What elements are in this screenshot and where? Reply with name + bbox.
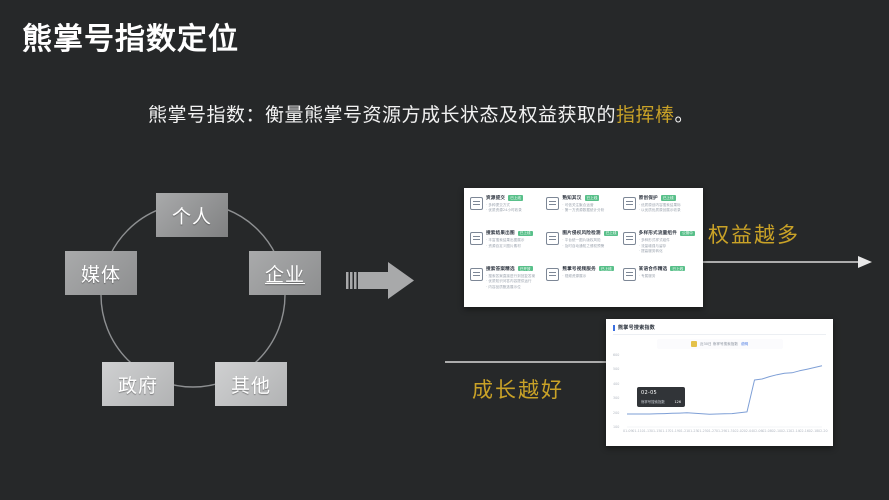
cycle-node-enterprise-label: 企业 [265,260,305,287]
feature-item-head: 某语合作精选 已上线 [639,266,697,272]
status-badge: 公测中 [680,231,695,236]
block-arrow-right-icon [346,256,416,304]
video-icon [546,268,559,281]
chart-y-tick: 200 [613,411,619,415]
chart-x-tick: 01-09 [623,429,633,433]
chart-x-tick: 01-13 [642,429,652,433]
chart-x-tick: 02-12 [781,429,791,433]
feature-item-title: 图片侵权风险检测 [562,230,600,236]
feature-item-body: 某语合作精选 已上线 · 专属服务 [639,266,697,300]
feature-item[interactable]: 图片侵权风险检测 已上线 · 平台统一图片版权风险 · 及时自动通知之侵权预警 [546,230,620,264]
chart-x-tick: 02-14 [790,429,800,433]
feature-item-head: 图片侵权风险检测 已上线 [562,230,620,236]
cycle-diagram: 个人 企业 其他 政府 媒体 [70,185,330,420]
feature-item-head: 多样形式流量组件 公测中 [639,230,697,236]
chart-x-tick: 01-29 [716,429,726,433]
cycle-node-government[interactable]: 政府 [102,362,174,406]
chart-x-tick: 01-11 [632,429,642,433]
chart-tooltip-label: 熊掌号搜索指数 [641,399,665,404]
chart-notice-text: 近30日 熊掌号搜索指数 [700,342,738,347]
chart-x-tick: 02-10 [772,429,782,433]
subtitle-text-before: 熊掌号指数：衡量熊掌号资源方成长状态及权益获取的 [148,104,616,126]
feature-item[interactable]: 熊掌号视频服务 已上线 · 视频资源展示 [546,266,620,300]
feature-item[interactable]: 搜索结果出图 已上线 · 丰富搜索结果出图展示 · 资源自定义图片素材 [470,230,544,264]
search-index-chart-card[interactable]: 熊掌号搜索指数 近30日 熊掌号搜索指数 说明 6005004003002001… [606,319,833,446]
feature-item[interactable]: 多样形式流量组件 公测中 · 多种形式样式组件 · 流量增强与留存 · 提高服务… [623,230,697,264]
cycle-node-other[interactable]: 其他 [215,362,287,406]
shield-document-icon [623,197,636,210]
status-badge: 已上线 [670,266,685,271]
feature-item-body: 搜索结果出图 已上线 · 丰富搜索结果出图展示 · 资源自定义图片素材 [486,230,544,264]
status-badge: 已上线 [599,266,614,271]
chart-y-tick: 400 [613,382,619,386]
chart-x-tick: 02-04 [744,429,754,433]
feature-grid-card[interactable]: 资源提交 已上线 · 多种提交方式 · 优质资源24小时收录 熟知其汉 已上线 … [464,188,703,307]
question-icon [470,268,483,281]
chart-y-tick: 600 [613,353,619,357]
chart-x-tick: 01-25 [697,429,707,433]
chart-x-tick: 01-15 [651,429,661,433]
feature-item-line: · 视频资源展示 [562,274,620,279]
annotation-growth-label: 成长越好 [472,374,564,404]
feature-item-line: · 资源自定义图片素材 [486,244,544,249]
status-badge: 已上线 [508,195,523,200]
accent-bar-icon [613,325,615,331]
chart-plot-area[interactable]: 600500400300200100 01-0901-1101-1301-150… [613,351,826,437]
feature-item-line: · 优质资源24小时收录 [486,208,544,213]
feature-item-body: 资源提交 已上线 · 多种提交方式 · 优质资源24小时收录 [486,195,544,229]
chart-x-tick: 01-21 [679,429,689,433]
chart-x-tick: 02-02 [734,429,744,433]
page-title: 熊掌号指数定位 [22,22,239,58]
feature-item-body: 原创保护 已上线 · 优质原创内容搜索结果标 · 以优质优质原创展示收录 [639,195,697,229]
list-icon [623,232,636,245]
subtitle-text-after: 。 [675,104,695,126]
feature-item-head: 原创保护 已上线 [639,195,697,201]
cycle-node-other-label: 其他 [231,371,271,398]
feature-item-head: 搜索答案精选 已开放 [486,266,544,272]
feature-item-line: · 及时自动通知之侵权预警 [562,244,620,249]
status-badge: 已开放 [518,266,533,271]
image-shield-icon [546,232,559,245]
feature-item-title: 资源提交 [486,195,505,201]
subtitle: 熊掌号指数：衡量熊掌号资源方成长状态及权益获取的指挥棒。 [148,100,694,127]
chart-tooltip-row: 熊掌号搜索指数 126 [641,399,681,404]
chart-x-tick: 02-08 [762,429,772,433]
status-badge: 已上线 [661,195,676,200]
cycle-node-person-label: 个人 [172,202,212,229]
chart-x-tick: 01-19 [669,429,679,433]
chart-tooltip: 02-05 熊掌号搜索指数 126 [637,387,685,407]
feature-item-title: 熟知其汉 [562,195,581,201]
chart-x-tick: 02-16 [799,429,809,433]
slide-root: 熊掌号指数定位 熊掌号指数：衡量熊掌号资源方成长状态及权益获取的指挥棒。 个人 … [0,0,889,500]
feature-item-body: 图片侵权风险检测 已上线 · 平台统一图片版权风险 · 及时自动通知之侵权预警 [562,230,620,264]
chart-tooltip-date: 02-05 [641,390,681,396]
status-badge: 已上线 [518,231,533,236]
chart-x-tick: 01-17 [660,429,670,433]
warning-icon [691,341,697,347]
chart-notice-banner: 近30日 熊掌号搜索指数 说明 [657,339,783,349]
feature-item-line: · 提高服务转化 [639,249,697,254]
chart-tooltip-value: 126 [675,400,681,404]
feature-item[interactable]: 原创保护 已上线 · 优质原创内容搜索结果标 · 以优质优质原创展示收录 [623,195,697,229]
feature-item-line: · 内容品质甄选展示位 [486,285,544,290]
feature-item-line: · 第一方资源数据统计分析 [562,208,620,213]
feature-item-title: 多样形式流量组件 [639,230,677,236]
chart-y-tick: 300 [613,396,619,400]
feature-item-body: 熊掌号视频服务 已上线 · 视频资源展示 [562,266,620,300]
feature-item-head: 资源提交 已上线 [486,195,544,201]
cycle-node-enterprise[interactable]: 企业 [249,251,321,295]
cycle-node-person[interactable]: 个人 [156,193,228,237]
status-badge: 已上线 [604,231,619,236]
feature-item-title: 搜索答案精选 [486,266,515,272]
feature-item-line: · 专属服务 [639,274,697,279]
chart-y-tick: 500 [613,367,619,371]
chart-x-tick: 02-20 [818,429,828,433]
document-icon [470,197,483,210]
feature-item-body: 熟知其汉 已上线 · 可信关注聚合运营 · 第一方资源数据统计分析 [562,195,620,229]
image-icon [470,232,483,245]
chart-title: 熊掌号搜索指数 [618,324,655,331]
cycle-node-media-label: 媒体 [81,260,121,287]
chart-x-tick: 02-18 [809,429,819,433]
feature-item-body: 多样形式流量组件 公测中 · 多种形式样式组件 · 流量增强与留存 · 提高服务… [639,230,697,264]
feature-item-body: 搜索答案精选 已开放 · 搜索答案直接进行到回复答案 · 优质知识问答内容提供运… [486,266,544,300]
feature-item[interactable]: 资源提交 已上线 · 多种提交方式 · 优质资源24小时收录 [470,195,544,229]
feature-item-title: 某语合作精选 [639,266,668,272]
chart-x-tick: 01-27 [707,429,717,433]
heart-icon [546,197,559,210]
annotation-rights-label: 权益越多 [708,219,800,249]
chart-x-tick: 01-31 [725,429,735,433]
feature-item-title: 熊掌号视频服务 [562,266,596,272]
feature-item-title: 原创保护 [639,195,658,201]
chart-x-tick: 01-23 [688,429,698,433]
feature-item-head: 熟知其汉 已上线 [562,195,620,201]
chart-y-tick: 100 [613,425,619,429]
chart-card-header: 熊掌号搜索指数 [613,324,826,335]
feature-item[interactable]: 搜索答案精选 已开放 · 搜索答案直接进行到回复答案 · 优质知识问答内容提供运… [470,266,544,300]
cycle-node-media[interactable]: 媒体 [65,251,137,295]
feature-item-head: 熊掌号视频服务 已上线 [562,266,620,272]
cycle-node-government-label: 政府 [118,371,158,398]
feature-item[interactable]: 某语合作精选 已上线 · 专属服务 [623,266,697,300]
feature-item-title: 搜索结果出图 [486,230,515,236]
status-badge: 已上线 [585,195,600,200]
feature-item-head: 搜索结果出图 已上线 [486,230,544,236]
handshake-icon [623,268,636,281]
feature-item-line: · 以优质优质原创展示收录 [639,208,697,213]
chart-x-tick: 02-06 [753,429,763,433]
chart-notice-link[interactable]: 说明 [741,342,748,347]
feature-item[interactable]: 熟知其汉 已上线 · 可信关注聚合运营 · 第一方资源数据统计分析 [546,195,620,229]
subtitle-highlight: 指挥棒 [616,104,675,126]
